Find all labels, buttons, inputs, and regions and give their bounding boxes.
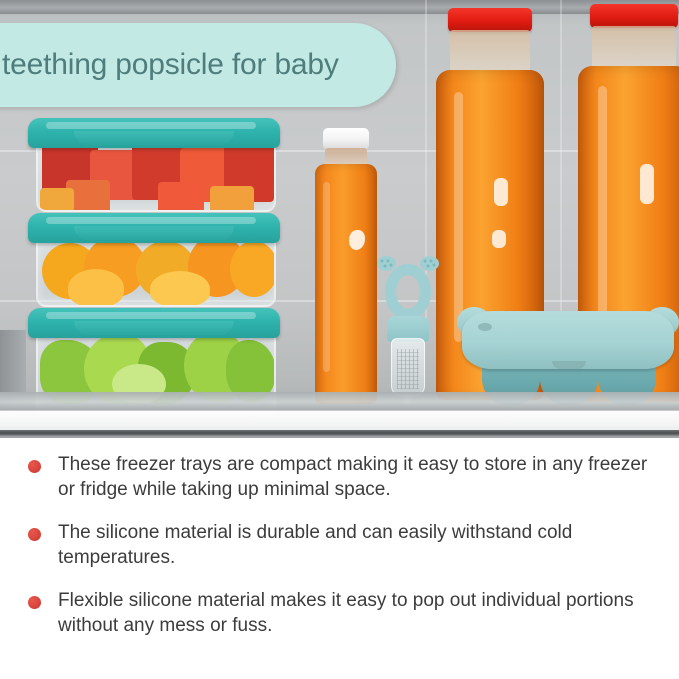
lid-gloss — [46, 122, 256, 129]
bear-ear-right-icon — [420, 256, 439, 271]
bottle-highlight — [598, 86, 607, 336]
fridge-shelf-shadow — [0, 430, 679, 436]
container-lid-teal — [28, 213, 280, 243]
feeder-mesh-basket — [391, 338, 425, 396]
bottle-glare — [640, 164, 654, 204]
bullet-text: These freezer trays are compact making i… — [58, 452, 657, 502]
product-photo: teething popsicle for baby — [0, 0, 679, 438]
bullet-dot-icon — [28, 460, 41, 473]
food-orange-slices — [38, 235, 274, 305]
bottle-cap-red — [448, 8, 532, 32]
list-item: These freezer trays are compact making i… — [28, 452, 657, 502]
fridge-top-rail — [0, 0, 679, 14]
container-body — [36, 140, 276, 212]
container-lid-teal — [28, 308, 280, 338]
list-item: The silicone material is durable and can… — [28, 520, 657, 570]
bullet-dot-icon — [28, 528, 41, 541]
wall-vertical-line — [560, 0, 562, 330]
tray-lid-notch — [478, 323, 492, 331]
bottle-glare — [494, 178, 508, 206]
title-banner: teething popsicle for baby — [0, 23, 396, 107]
bottle-glare — [492, 230, 506, 248]
food-red-peppers — [38, 140, 274, 210]
bottle-body-juice — [315, 164, 377, 404]
feeder-ring-handle — [385, 264, 431, 320]
bullet-dot-icon — [28, 596, 41, 609]
list-item: Flexible silicone material makes it easy… — [28, 588, 657, 638]
bottle-cap-white — [323, 128, 369, 150]
feature-bullet-list: These freezer trays are compact making i… — [0, 444, 679, 679]
stacked-glass-containers — [28, 118, 288, 406]
silicone-fruit-feeder-teether — [375, 252, 441, 406]
container-body — [36, 235, 276, 307]
banner-title: teething popsicle for baby — [2, 48, 339, 82]
lid-gloss — [46, 312, 256, 319]
bottle-glare — [349, 230, 365, 250]
bear-silicone-freezer-tray — [462, 303, 674, 406]
tray-lid-seam — [552, 361, 586, 369]
bottle-cap-red — [590, 4, 678, 28]
container-lid-teal — [28, 118, 280, 148]
bullet-text: The silicone material is durable and can… — [58, 520, 657, 570]
lid-gloss — [46, 217, 256, 224]
bullet-text: Flexible silicone material makes it easy… — [58, 588, 657, 638]
small-juice-bottle — [309, 128, 383, 406]
